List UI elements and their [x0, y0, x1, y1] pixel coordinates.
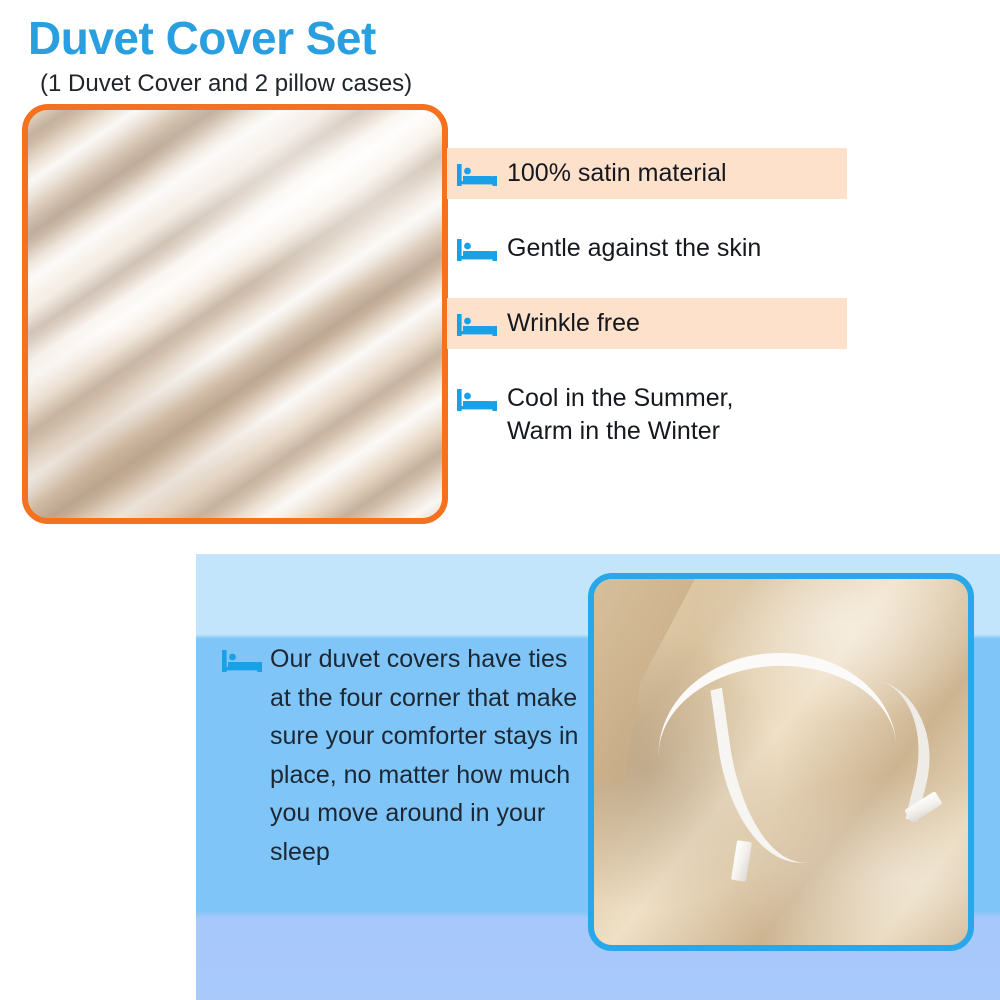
bed-icon	[222, 648, 262, 674]
feature-label: Cool in the Summer, Warm in the Winter	[507, 382, 734, 448]
ties-description-text: Our duvet covers have ties at the four c…	[270, 640, 592, 871]
bed-icon	[457, 387, 497, 413]
bed-icon	[457, 237, 497, 263]
bed-icon	[457, 312, 497, 338]
product-infographic: Duvet Cover Set (1 Duvet Cover and 2 pil…	[0, 0, 1000, 1000]
bed-icon	[457, 162, 497, 188]
ties-description: Our duvet covers have ties at the four c…	[222, 640, 592, 871]
page-subtitle: (1 Duvet Cover and 2 pillow cases)	[40, 70, 412, 98]
feature-item: Wrinkle free	[447, 298, 847, 349]
feature-list: 100% satin material Gentle against the s…	[447, 148, 847, 481]
feature-label: Wrinkle free	[507, 307, 640, 340]
feature-item: Cool in the Summer, Warm in the Winter	[447, 373, 847, 457]
feature-label: Gentle against the skin	[507, 232, 761, 265]
feature-item: 100% satin material	[447, 148, 847, 199]
feature-label: 100% satin material	[507, 157, 727, 190]
fabric-photo	[22, 104, 448, 524]
page-title: Duvet Cover Set	[28, 14, 376, 62]
feature-item: Gentle against the skin	[447, 223, 847, 274]
ties-photo	[588, 573, 974, 951]
fabric-photo-sheen	[28, 110, 442, 518]
